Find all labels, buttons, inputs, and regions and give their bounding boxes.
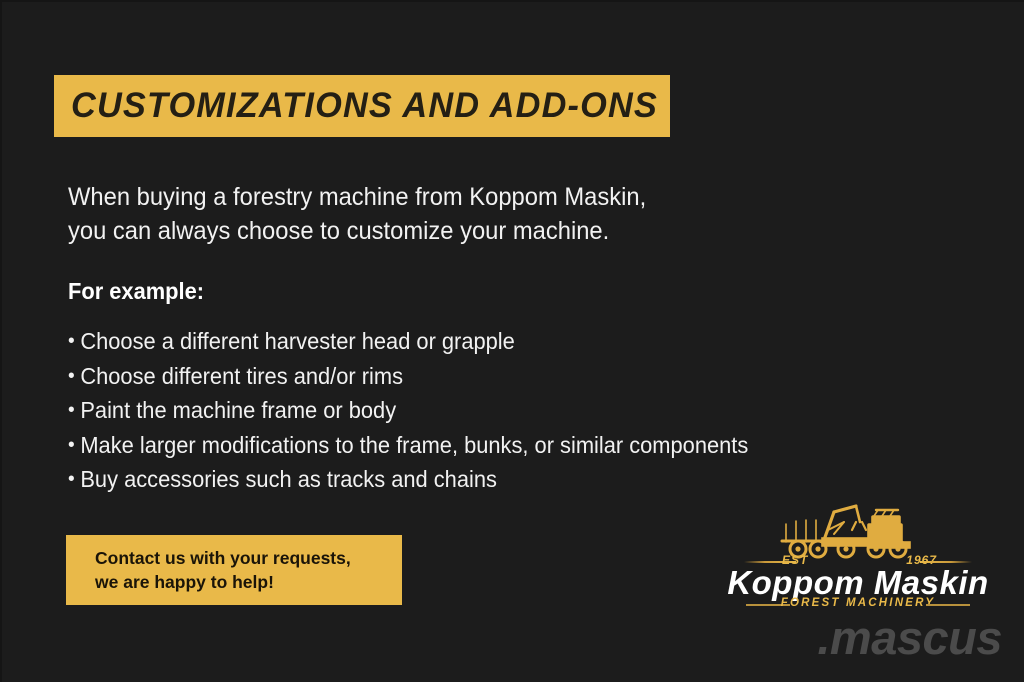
page-title: CUSTOMIZATIONS AND ADD-ONS [71,86,658,126]
intro-line-2: you can always choose to customize your … [68,214,733,248]
slide-canvas: CUSTOMIZATIONS AND ADD-ONS When buying a… [0,0,1024,682]
list-item: Paint the machine frame or body [68,393,847,428]
contact-callout: Contact us with your requests, we are ha… [66,535,402,605]
koppom-maskin-logo: EST 1967 Koppom Maskin FOREST MACHINERY [724,500,992,610]
list-item: Choose a different harvester head or gra… [68,324,847,359]
mascus-watermark: .mascus [754,614,1002,662]
example-heading: For example: [68,278,204,305]
logo-tagline-row: FOREST MACHINERY [724,597,992,611]
forwarder-machine-icon [772,500,952,560]
contact-line-2: we are happy to help! [95,570,402,594]
logo-tagline-rule-right [926,604,970,606]
logo-tagline: FOREST MACHINERY [724,597,992,609]
contact-line-1: Contact us with your requests, [95,546,402,570]
logo-rule-right [920,561,972,563]
list-item: Make larger modifications to the frame, … [68,428,847,463]
list-item: Choose different tires and/or rims [68,359,847,394]
list-item: Buy accessories such as tracks and chain… [68,462,847,497]
intro-line-1: When buying a forestry machine from Kopp… [68,180,733,214]
intro-paragraph: When buying a forestry machine from Kopp… [68,180,733,248]
title-banner: CUSTOMIZATIONS AND ADD-ONS [54,75,670,137]
customization-list: Choose a different harvester head or gra… [68,324,847,497]
